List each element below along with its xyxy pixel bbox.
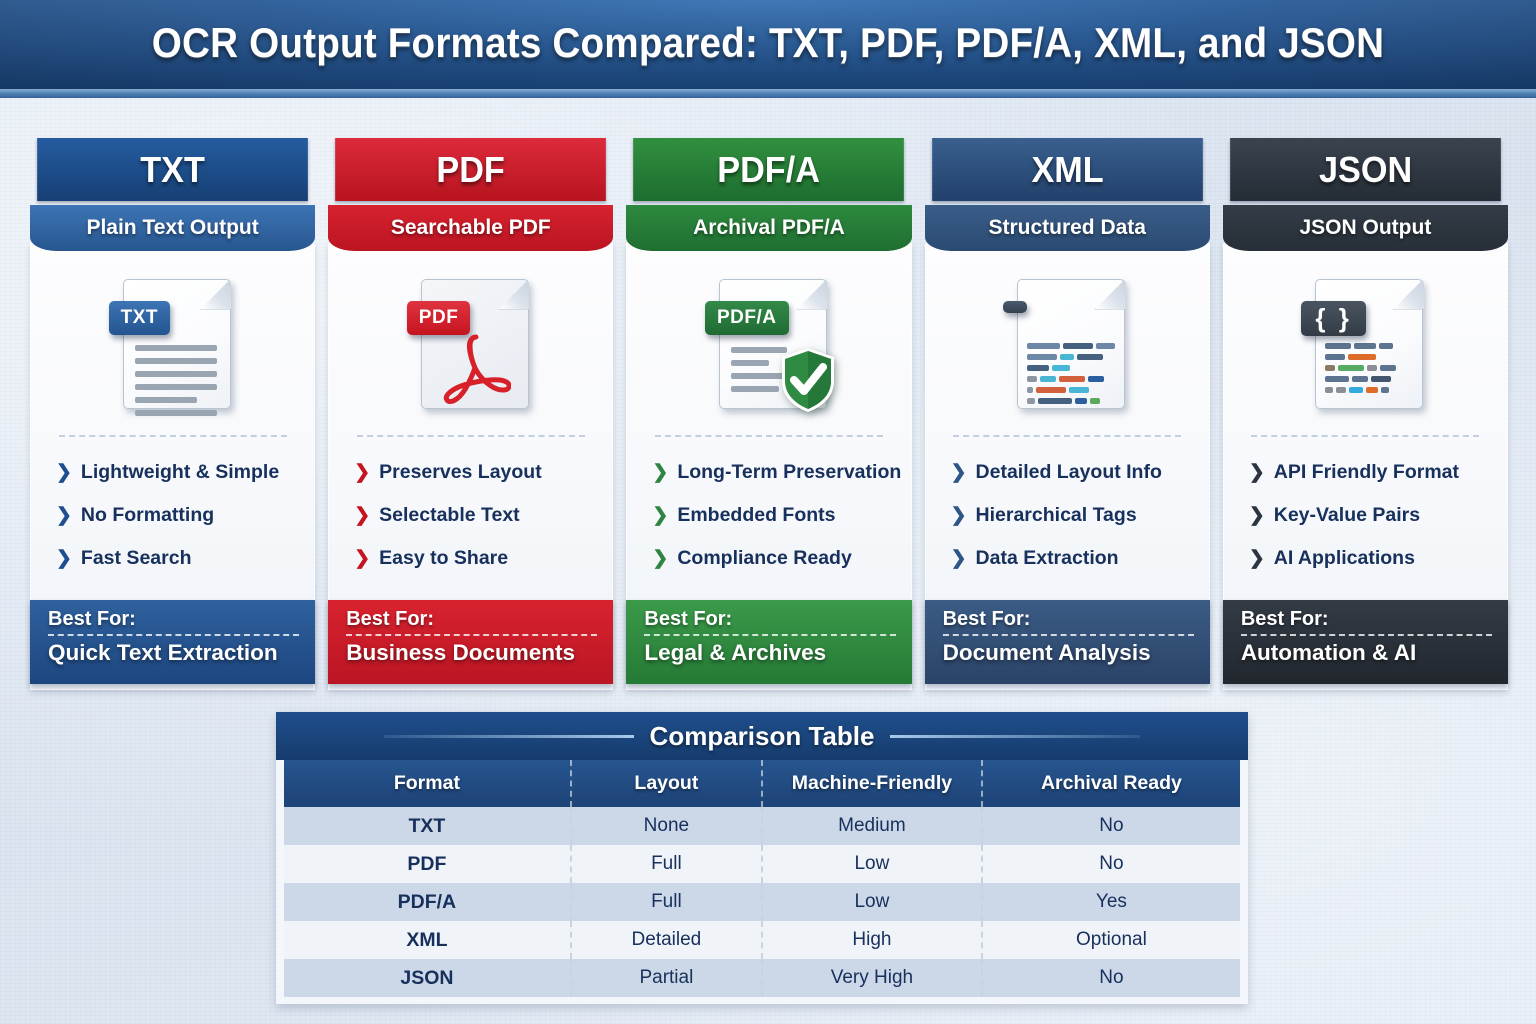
txt-file-icon: TXT bbox=[109, 271, 237, 413]
card-subtitle-text: Archival PDF/A bbox=[693, 216, 845, 240]
chevron-right-icon: ❯ bbox=[652, 549, 668, 568]
feature-label: Embedded Fonts bbox=[677, 504, 835, 527]
best-for-label: Best For: bbox=[1241, 608, 1492, 631]
feature-item: ❯Long-Term Preservation bbox=[652, 451, 911, 494]
comparison-table-panel: Comparison Table FormatLayoutMachine-Fri… bbox=[276, 712, 1248, 1004]
card-title-txt: TXT bbox=[37, 138, 308, 201]
best-for-label: Best For: bbox=[644, 608, 895, 631]
card-subtitle-txt: Plain Text Output bbox=[30, 205, 315, 251]
chevron-right-icon: ❯ bbox=[951, 506, 967, 525]
chevron-right-icon: ❯ bbox=[951, 549, 967, 568]
best-for-rule bbox=[1241, 634, 1492, 636]
feature-list-pdf: ❯Preserves Layout❯Selectable Text❯Easy t… bbox=[328, 437, 613, 580]
card-subtitle-text: JSON Output bbox=[1300, 216, 1432, 240]
chevron-right-icon: ❯ bbox=[1249, 506, 1265, 525]
feature-item: ❯Fast Search bbox=[56, 537, 315, 580]
pdfa-file-shield-icon: PDF/A bbox=[705, 271, 833, 413]
table-row: TXTNoneMediumNo bbox=[284, 807, 1240, 845]
best-for-xml: Best For:Document Analysis bbox=[925, 600, 1210, 684]
chevron-right-icon: ❯ bbox=[951, 463, 967, 482]
table-cell: Optional bbox=[982, 921, 1240, 959]
page-fold bbox=[200, 279, 231, 310]
page-fold bbox=[1095, 279, 1126, 310]
feature-item: ❯Compliance Ready bbox=[652, 537, 911, 580]
table-header-row: FormatLayoutMachine-FriendlyArchival Rea… bbox=[284, 760, 1240, 807]
best-for-value: Legal & Archives bbox=[644, 640, 895, 666]
feature-label: Long-Term Preservation bbox=[677, 461, 901, 484]
table-cell: Yes bbox=[982, 883, 1240, 921]
card-title-text: JSON bbox=[1319, 149, 1412, 191]
feature-item: ❯Lightweight & Simple bbox=[56, 451, 315, 494]
table-cell: None bbox=[571, 807, 762, 845]
json-file-icon: { } bbox=[1301, 271, 1429, 413]
table-cell: Low bbox=[762, 845, 982, 883]
page-title: OCR Output Formats Compared: TXT, PDF, P… bbox=[61, 0, 1474, 86]
best-for-json: Best For:Automation & AI bbox=[1223, 600, 1508, 684]
table-cell-format: TXT bbox=[284, 807, 571, 845]
best-for-pdf: Best For:Business Documents bbox=[328, 600, 613, 684]
chevron-right-icon: ❯ bbox=[652, 506, 668, 525]
feature-label: No Formatting bbox=[81, 504, 214, 527]
caption-rule-left bbox=[384, 735, 634, 738]
caption-text: Comparison Table bbox=[650, 721, 875, 752]
best-for-rule bbox=[346, 634, 597, 636]
file-type-tag bbox=[1003, 301, 1027, 313]
table-cell: No bbox=[982, 959, 1240, 997]
best-for-row: Best For:Quick Text ExtractionBest For:B… bbox=[30, 600, 1508, 684]
feature-item: ❯Hierarchical Tags bbox=[951, 494, 1210, 537]
chevron-right-icon: ❯ bbox=[1249, 549, 1265, 568]
table-cell: Medium bbox=[762, 807, 982, 845]
header-banner: OCR Output Formats Compared: TXT, PDF, P… bbox=[0, 0, 1536, 98]
chevron-right-icon: ❯ bbox=[56, 506, 72, 525]
card-icon-area bbox=[925, 251, 1210, 433]
feature-list-txt: ❯Lightweight & Simple❯No Formatting❯Fast… bbox=[30, 437, 315, 580]
card-icon-area: { } bbox=[1223, 251, 1508, 433]
best-for-value: Business Documents bbox=[346, 640, 597, 666]
pdf-file-icon: PDF bbox=[407, 271, 535, 413]
chevron-right-icon: ❯ bbox=[56, 549, 72, 568]
feature-label: Lightweight & Simple bbox=[81, 461, 279, 484]
best-for-pdfa: Best For:Legal & Archives bbox=[626, 600, 911, 684]
chevron-right-icon: ❯ bbox=[1249, 463, 1265, 482]
table-row: PDF/AFullLowYes bbox=[284, 883, 1240, 921]
feature-label: Fast Search bbox=[81, 547, 192, 570]
table-cell: Detailed bbox=[571, 921, 762, 959]
feature-item: ❯Selectable Text bbox=[354, 494, 613, 537]
chevron-right-icon: ❯ bbox=[354, 549, 370, 568]
comparison-table: FormatLayoutMachine-FriendlyArchival Rea… bbox=[284, 760, 1240, 997]
caption-rule-right bbox=[890, 735, 1140, 738]
chevron-right-icon: ❯ bbox=[354, 506, 370, 525]
feature-label: Hierarchical Tags bbox=[976, 504, 1137, 527]
document-text-lines bbox=[135, 345, 217, 423]
table-cell: Low bbox=[762, 883, 982, 921]
table-cell-format: PDF bbox=[284, 845, 571, 883]
file-type-tag: TXT bbox=[109, 301, 170, 335]
card-subtitle-text: Plain Text Output bbox=[86, 216, 258, 240]
file-type-tag: { } bbox=[1301, 301, 1365, 336]
best-for-txt: Best For:Quick Text Extraction bbox=[30, 600, 315, 684]
card-title-text: XML bbox=[1031, 149, 1103, 191]
card-title-pdfa: PDF/A bbox=[634, 138, 905, 201]
code-lines bbox=[1325, 343, 1413, 398]
best-for-rule bbox=[48, 634, 299, 636]
card-title-pdf: PDF bbox=[335, 138, 606, 201]
table-cell: Partial bbox=[571, 959, 762, 997]
feature-list-xml: ❯Detailed Layout Info❯Hierarchical Tags❯… bbox=[925, 437, 1210, 580]
card-title-text: TXT bbox=[140, 149, 205, 191]
verified-shield-icon bbox=[779, 347, 837, 413]
table-cell: Very High bbox=[762, 959, 982, 997]
best-for-value: Automation & AI bbox=[1241, 640, 1492, 666]
feature-list-json: ❯API Friendly Format❯Key-Value Pairs❯AI … bbox=[1223, 437, 1508, 580]
feature-item: ❯Key-Value Pairs bbox=[1249, 494, 1508, 537]
table-cell-format: PDF/A bbox=[284, 883, 571, 921]
card-subtitle-pdfa: Archival PDF/A bbox=[626, 205, 911, 251]
card-subtitle-text: Searchable PDF bbox=[391, 216, 551, 240]
card-icon-area: PDF/A bbox=[626, 251, 911, 433]
table-col-header: Archival Ready bbox=[982, 760, 1240, 807]
card-subtitle-json: JSON Output bbox=[1223, 205, 1508, 251]
feature-label: Preserves Layout bbox=[379, 461, 542, 484]
table-cell: Full bbox=[571, 883, 762, 921]
table-cell: Full bbox=[571, 845, 762, 883]
best-for-label: Best For: bbox=[943, 608, 1194, 631]
table-cell: No bbox=[982, 807, 1240, 845]
feature-item: ❯Detailed Layout Info bbox=[951, 451, 1210, 494]
file-type-tag: PDF/A bbox=[705, 301, 789, 335]
card-title-json: JSON bbox=[1230, 138, 1501, 201]
card-subtitle-xml: Structured Data bbox=[925, 205, 1210, 251]
card-icon-area: TXT bbox=[30, 251, 315, 433]
best-for-value: Quick Text Extraction bbox=[48, 640, 299, 666]
acrobat-logo-icon bbox=[441, 333, 511, 407]
table-cell: No bbox=[982, 845, 1240, 883]
page-fold bbox=[498, 279, 529, 310]
feature-item: ❯API Friendly Format bbox=[1249, 451, 1508, 494]
card-title-xml: XML bbox=[932, 138, 1203, 201]
feature-item: ❯Preserves Layout bbox=[354, 451, 613, 494]
card-title-text: PDF/A bbox=[718, 149, 821, 191]
best-for-rule bbox=[943, 634, 1194, 636]
xml-file-icon bbox=[1003, 271, 1131, 413]
table-cell: High bbox=[762, 921, 982, 959]
chevron-right-icon: ❯ bbox=[652, 463, 668, 482]
page-fold bbox=[797, 279, 828, 310]
feature-item: ❯Embedded Fonts bbox=[652, 494, 911, 537]
feature-label: AI Applications bbox=[1274, 547, 1415, 570]
feature-item: ❯Data Extraction bbox=[951, 537, 1210, 580]
feature-label: Data Extraction bbox=[976, 547, 1119, 570]
feature-label: Compliance Ready bbox=[677, 547, 851, 570]
comparison-table-caption: Comparison Table bbox=[276, 712, 1248, 760]
feature-label: API Friendly Format bbox=[1274, 461, 1459, 484]
card-subtitle-text: Structured Data bbox=[988, 216, 1146, 240]
code-lines bbox=[1027, 343, 1115, 409]
feature-item: ❯Easy to Share bbox=[354, 537, 613, 580]
feature-list-pdfa: ❯Long-Term Preservation❯Embedded Fonts❯C… bbox=[626, 437, 911, 580]
feature-label: Key-Value Pairs bbox=[1274, 504, 1420, 527]
best-for-rule bbox=[644, 634, 895, 636]
table-col-header: Format bbox=[284, 760, 571, 807]
table-row: XMLDetailedHighOptional bbox=[284, 921, 1240, 959]
chevron-right-icon: ❯ bbox=[354, 463, 370, 482]
table-row: JSONPartialVery HighNo bbox=[284, 959, 1240, 997]
table-row: PDFFullLowNo bbox=[284, 845, 1240, 883]
table-cell-format: XML bbox=[284, 921, 571, 959]
best-for-value: Document Analysis bbox=[943, 640, 1194, 666]
file-type-tag: PDF bbox=[407, 301, 471, 335]
feature-item: ❯AI Applications bbox=[1249, 537, 1508, 580]
feature-item: ❯No Formatting bbox=[56, 494, 315, 537]
best-for-label: Best For: bbox=[48, 608, 299, 631]
table-col-header: Layout bbox=[571, 760, 762, 807]
card-subtitle-pdf: Searchable PDF bbox=[328, 205, 613, 251]
feature-label: Detailed Layout Info bbox=[976, 461, 1162, 484]
table-cell-format: JSON bbox=[284, 959, 571, 997]
card-title-text: PDF bbox=[437, 149, 505, 191]
table-col-header: Machine-Friendly bbox=[762, 760, 982, 807]
chevron-right-icon: ❯ bbox=[56, 463, 72, 482]
page-fold bbox=[1393, 279, 1424, 310]
best-for-label: Best For: bbox=[346, 608, 597, 631]
feature-label: Easy to Share bbox=[379, 547, 508, 570]
card-icon-area: PDF bbox=[328, 251, 613, 433]
feature-label: Selectable Text bbox=[379, 504, 520, 527]
